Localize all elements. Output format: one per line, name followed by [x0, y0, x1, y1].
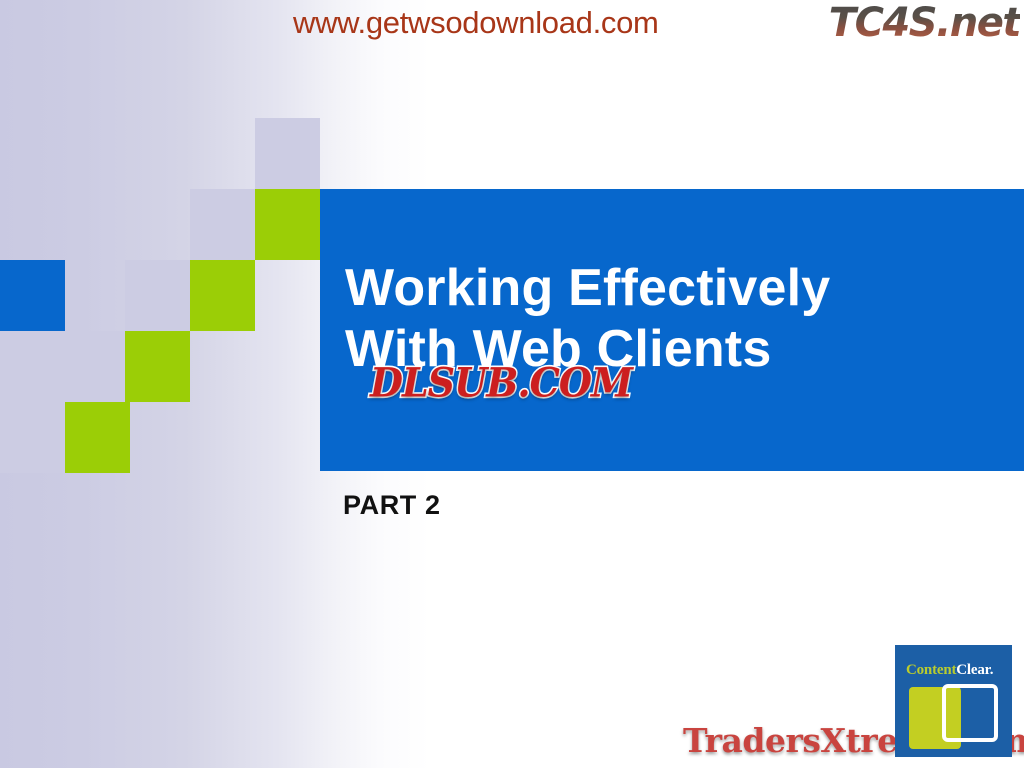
contentclear-logo: ContentClear. — [895, 645, 1012, 757]
contentclear-outline-rect-icon — [942, 684, 998, 742]
decorative-square-lav — [255, 118, 320, 189]
decorative-square-green — [125, 331, 190, 402]
decorative-square-lav — [0, 402, 65, 473]
decorative-square-lav — [190, 189, 255, 260]
contentclear-wordmark-part-2: Clear. — [956, 662, 993, 678]
watermark-logo-tc4s: TC4S.net — [829, 0, 1020, 46]
contentclear-wordmark: ContentClear. — [906, 662, 993, 679]
watermark-overlay-dlsub: DLSUB.COM — [370, 359, 632, 406]
decorative-square-lav — [65, 331, 130, 402]
decorative-square-lav — [125, 260, 190, 331]
contentclear-wordmark-part-1: Content — [906, 662, 956, 678]
slide-part-label: PART 2 — [343, 490, 441, 521]
decorative-square-green — [65, 402, 130, 473]
decorative-square-green — [190, 260, 255, 331]
presentation-slide: Working Effectively With Web Clients PAR… — [0, 0, 1024, 768]
slide-title-line-1: Working Effectively — [345, 258, 1005, 319]
watermark-url-top-left: www.getwsodownload.com — [293, 5, 659, 41]
decorative-square-green — [255, 189, 320, 260]
decorative-square-blue — [0, 260, 65, 331]
decorative-square-lav — [0, 331, 65, 402]
